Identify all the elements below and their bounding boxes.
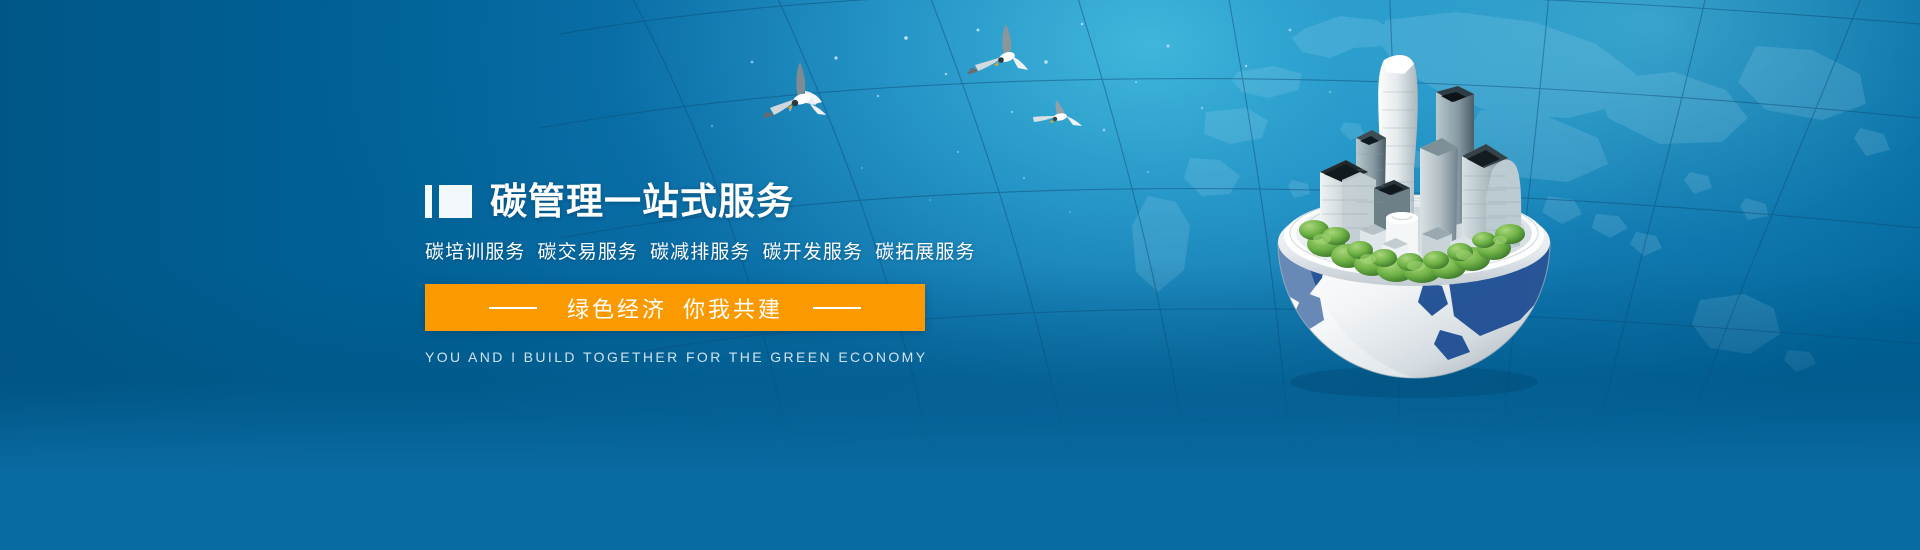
page-title: 碳管理一站式服务	[490, 183, 794, 220]
seagull-icon	[966, 22, 1032, 80]
bar-square-mark-icon	[425, 185, 472, 218]
mark-square	[439, 185, 472, 218]
horizontal-rule-icon	[813, 307, 861, 309]
service-list: 碳培训服务碳交易服务碳减排服务碳开发服务碳拓展服务	[425, 237, 1065, 264]
slogan-right: 你我共建	[683, 297, 783, 322]
earth-hemisphere-with-city-icon	[1264, 30, 1564, 410]
service-item-5: 碳拓展服务	[875, 242, 976, 263]
slogan-left: 绿色经济	[567, 297, 667, 322]
service-item-4: 碳开发服务	[763, 242, 864, 263]
slogan-text: 绿色经济你我共建	[567, 292, 783, 324]
mark-bar	[425, 185, 432, 218]
service-item-2: 碳交易服务	[538, 242, 639, 263]
headline-row: 碳管理一站式服务	[425, 178, 1065, 224]
service-item-3: 碳减排服务	[650, 242, 751, 263]
horizontal-rule-icon	[489, 307, 537, 309]
hero-banner: 碳管理一站式服务 碳培训服务碳交易服务碳减排服务碳开发服务碳拓展服务 绿色经济你…	[0, 0, 1920, 550]
seagull-icon	[760, 58, 834, 124]
english-tagline: YOU AND I BUILD TOGETHER FOR THE GREEN E…	[425, 349, 925, 365]
service-item-1: 碳培训服务	[425, 242, 526, 263]
seagull-icon	[1030, 96, 1084, 130]
slogan-ribbon: 绿色经济你我共建	[425, 284, 925, 331]
banner-copy: 碳管理一站式服务 碳培训服务碳交易服务碳减排服务碳开发服务碳拓展服务 绿色经济你…	[425, 178, 1065, 365]
background-bottom-band	[0, 380, 1920, 550]
